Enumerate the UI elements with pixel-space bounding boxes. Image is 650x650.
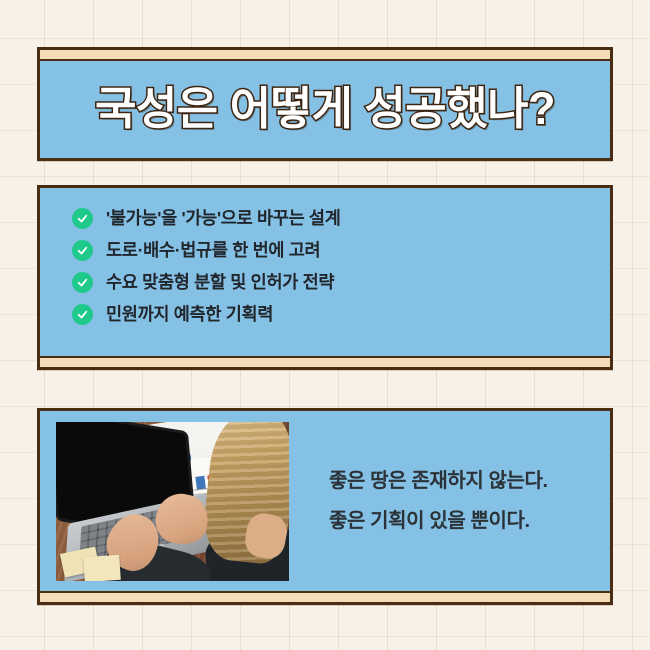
check-circle-icon [72,240,93,261]
quote-text-block: 좋은 땅은 존재하지 않는다. 좋은 기획이 있을 뿐이다. [329,470,610,532]
title-card-accent-strip [40,50,610,61]
quote-card-accent-strip [40,591,610,602]
woman-typing-on-laptop-photo [56,422,289,581]
poster-canvas: 국성은 어떻게 성공했나? '불가능'을 '가능'으로 바꾸는 설계 [0,0,650,650]
quote-line: 좋은 기획이 있을 뿐이다. [329,510,610,532]
photo-sticky-note [83,554,121,580]
checklist-card-accent-strip [40,356,610,367]
quote-card: 좋은 땅은 존재하지 않는다. 좋은 기획이 있을 뿐이다. [37,408,613,605]
checklist-item-label: '불가능'을 '가능'으로 바꾸는 설계 [106,208,341,229]
checklist-card: '불가능'을 '가능'으로 바꾸는 설계 도로·배수·법규를 한 번에 고려 수… [37,185,613,370]
title-card: 국성은 어떻게 성공했나? [37,47,613,161]
check-circle-icon [72,208,93,229]
page-title: 국성은 어떻게 성공했나? [95,86,555,131]
quote-line: 좋은 땅은 존재하지 않는다. [329,470,610,492]
list-item: 수요 맞춤형 분할 및 인허가 전략 [72,272,610,293]
checklist-card-body: '불가능'을 '가능'으로 바꾸는 설계 도로·배수·법규를 한 번에 고려 수… [40,188,610,356]
list-item: 민원까지 예측한 기획력 [72,304,610,325]
title-card-body: 국성은 어떻게 성공했나? [40,61,610,158]
check-circle-icon [72,304,93,325]
check-circle-icon [72,272,93,293]
list-item: '불가능'을 '가능'으로 바꾸는 설계 [72,208,610,229]
checklist-item-label: 민원까지 예측한 기획력 [106,304,273,325]
checklist-item-label: 수요 맞춤형 분할 및 인허가 전략 [106,272,334,293]
list-item: 도로·배수·법규를 한 번에 고려 [72,240,610,261]
quote-card-body: 좋은 땅은 존재하지 않는다. 좋은 기획이 있을 뿐이다. [40,411,610,591]
checklist-item-label: 도로·배수·법규를 한 번에 고려 [106,240,320,261]
